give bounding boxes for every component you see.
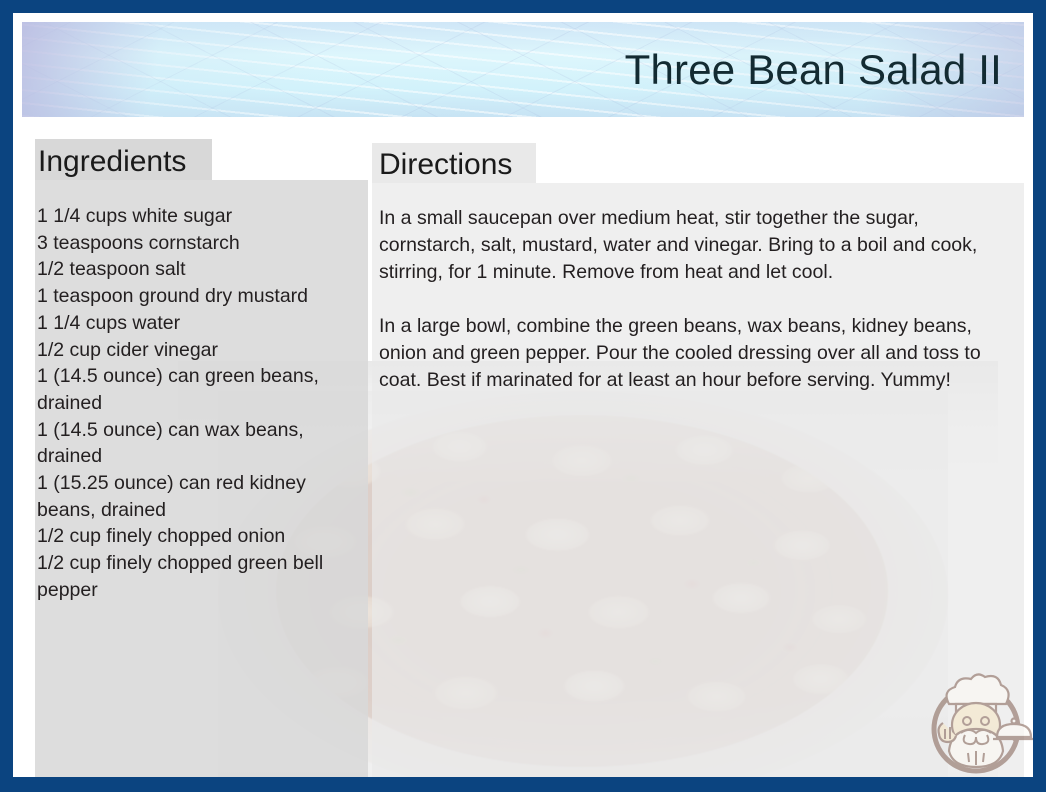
ingredient-item: 1/2 cup cider vinegar <box>37 337 363 364</box>
ingredient-item: 1 (14.5 ounce) can wax beans, drained <box>37 417 363 470</box>
direction-paragraph: In a large bowl, combine the green beans… <box>379 313 1007 394</box>
page-title: Three Bean Salad II <box>625 46 1002 94</box>
ingredient-item: 1 (15.25 ounce) can red kidney beans, dr… <box>37 470 363 523</box>
ingredients-list: 1 1/4 cups white sugar3 teaspoons cornst… <box>37 203 363 604</box>
header-banner: Three Bean Salad II <box>22 22 1024 117</box>
ingredient-item: 1/2 cup finely chopped onion <box>37 523 363 550</box>
ingredient-item: 1 1/4 cups water <box>37 310 363 337</box>
directions-body: In a small saucepan over medium heat, st… <box>379 205 1007 394</box>
ingredients-heading: Ingredients <box>38 144 186 180</box>
ingredient-item: 1 (14.5 ounce) can green beans, drained <box>37 363 363 416</box>
ingredient-item: 3 teaspoons cornstarch <box>37 230 363 257</box>
direction-paragraph: In a small saucepan over medium heat, st… <box>379 205 1007 286</box>
ingredient-item: 1/2 teaspoon salt <box>37 256 363 283</box>
directions-heading: Directions <box>379 147 512 183</box>
chef-mascot-logo <box>915 663 1037 785</box>
ingredient-item: 1/2 cup finely chopped green bell pepper <box>37 550 363 603</box>
ingredient-item: 1 teaspoon ground dry mustard <box>37 283 363 310</box>
recipe-slide: Three Bean Salad II Ingredients 1 1/4 cu… <box>0 0 1046 792</box>
ingredient-item: 1 1/4 cups white sugar <box>37 203 363 230</box>
